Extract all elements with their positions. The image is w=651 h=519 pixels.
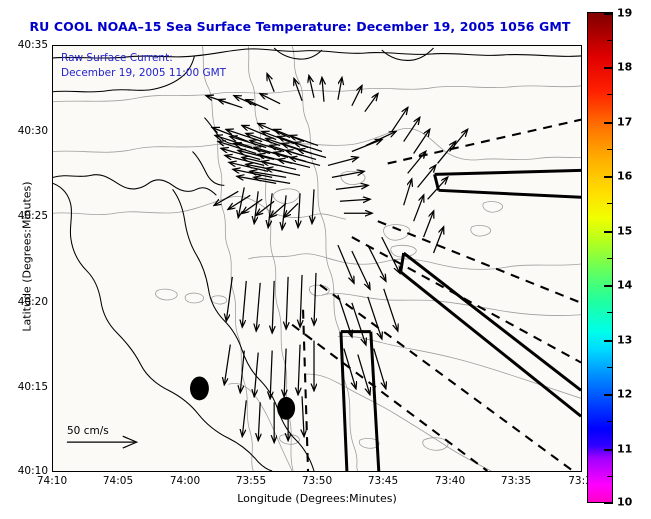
colorbar-tick-mark xyxy=(604,340,613,342)
colorbar-tick-mark xyxy=(604,285,613,287)
xtick-4: 73:50 xyxy=(302,475,332,487)
colorbar-label-10: 10 xyxy=(617,496,632,509)
ytick-0: 40:35 xyxy=(18,39,48,51)
ytick-4: 40:15 xyxy=(18,381,48,393)
ytick-5: 40:10 xyxy=(18,465,48,477)
y-axis-label: Latitude (Degrees:Minutes) xyxy=(21,137,34,377)
colorbar-minor-tick xyxy=(607,149,613,150)
shipping-lane-corridor xyxy=(341,170,581,471)
xtick-6: 73:40 xyxy=(435,475,465,487)
bathymetry-contours xyxy=(53,46,581,471)
colorbar-tick-mark xyxy=(604,394,613,396)
colorbar-minor-tick xyxy=(607,312,613,313)
map-plot-area: Raw Surface Current: December 19, 2005 1… xyxy=(52,45,582,472)
colorbar-label-11: 11 xyxy=(617,443,632,456)
velocity-scale-legend: 50 cm/s xyxy=(57,425,167,465)
xtick-5: 73:45 xyxy=(368,475,398,487)
colorbar-tick-mark xyxy=(604,231,613,233)
colorbar-label-14: 14 xyxy=(617,279,632,292)
colorbar-tick-mark xyxy=(604,122,613,124)
colorbar-minor-tick xyxy=(607,421,613,422)
colorbar-label-15: 15 xyxy=(617,225,632,238)
colorbar-minor-tick xyxy=(607,476,613,477)
figure-title: RU COOL NOAA–15 Sea Surface Temperature:… xyxy=(0,19,600,34)
xtick-1: 74:05 xyxy=(103,475,133,487)
colorbar-minor-tick xyxy=(607,40,613,41)
xtick-3: 73:55 xyxy=(236,475,266,487)
colorbar-label-16: 16 xyxy=(617,170,632,183)
scale-legend-label: 50 cm/s xyxy=(67,425,109,437)
colorbar-tick-mark xyxy=(604,176,613,178)
map-graphics xyxy=(53,46,581,471)
colorbar-label-18: 18 xyxy=(617,61,632,74)
colorbar-label-13: 13 xyxy=(617,334,632,347)
colorbar-label-12: 12 xyxy=(617,388,632,401)
xtick-2: 74:00 xyxy=(170,475,200,487)
colorbar-minor-tick xyxy=(607,203,613,204)
colorbar-label-17: 17 xyxy=(617,116,632,129)
colorbar-tick-mark xyxy=(604,449,613,451)
colorbar-label-19: 19 xyxy=(617,7,632,20)
colorbar-minor-tick xyxy=(607,94,613,95)
ytick-1: 40:30 xyxy=(18,125,48,137)
colorbar-tick-mark xyxy=(604,13,613,15)
station-markers xyxy=(190,376,295,419)
colorbar-minor-tick xyxy=(607,258,613,259)
coastline xyxy=(53,48,581,471)
colorbar-minor-tick xyxy=(607,367,613,368)
colorbar-tick-mark xyxy=(604,502,613,504)
x-axis-label: Longitude (Degrees:Minutes) xyxy=(52,492,582,505)
xtick-7: 73:35 xyxy=(501,475,531,487)
colorbar-tick-mark xyxy=(604,67,613,69)
sst-map-figure: RU COOL NOAA–15 Sea Surface Temperature:… xyxy=(0,0,651,519)
